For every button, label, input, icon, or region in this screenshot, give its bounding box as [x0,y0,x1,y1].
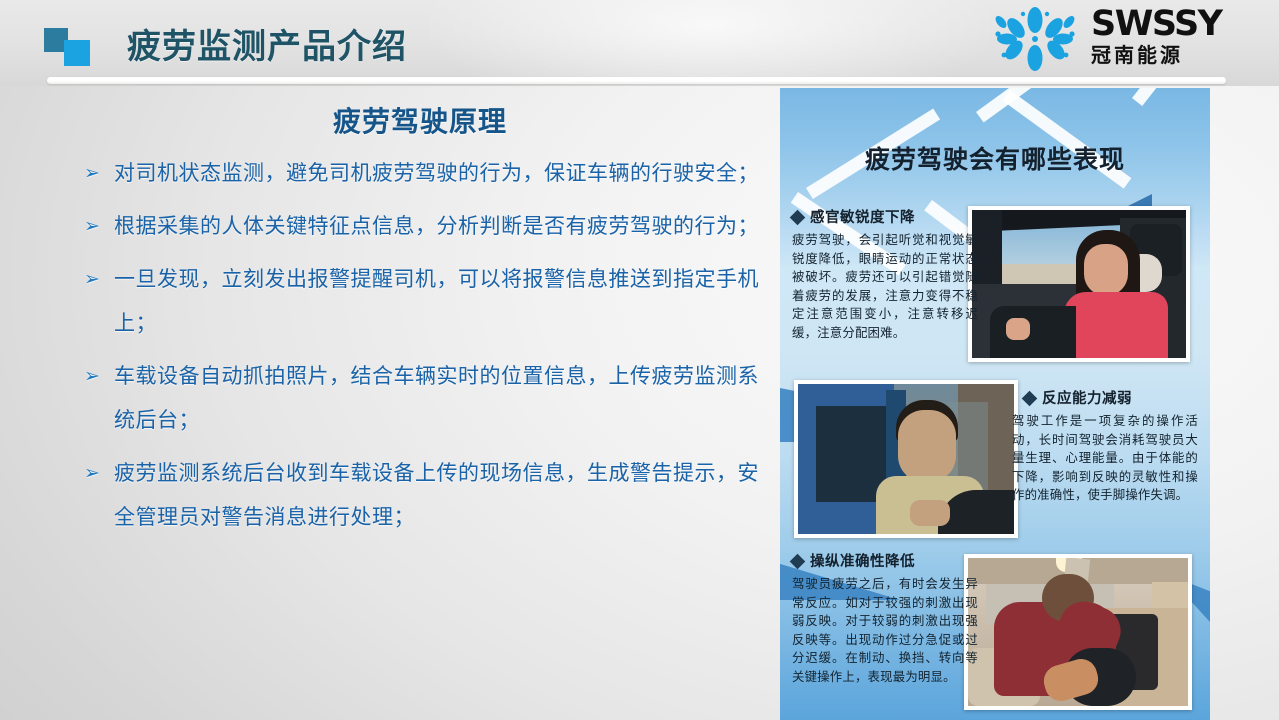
logo-text-block: SWSSY 冠南能源 [1091,5,1261,69]
infographic-heading: 疲劳驾驶会有哪些表现 [780,140,1210,176]
photo-layer-steering-wheel [990,306,1076,358]
photo-layer-face [898,410,956,482]
bullet-list: ➢ 对司机状态监测，避免司机疲劳驾驶的行为，保证车辆的行驶安全； ➢ 根据采集的… [78,152,768,549]
header-sheen [430,0,990,86]
section-body-text: 疲劳驾驶，会引起听觉和视觉敏锐度降低，眼睛运动的正常状态被破坏。疲劳还可以引起错… [792,231,978,342]
section-heading-text: 操纵准确性降低 [810,554,915,570]
bullet-arrow-icon: ➢ [84,258,100,302]
photo-woman-driving-tired [968,206,1190,362]
slide-header: 疲劳监测产品介绍 [0,0,1279,86]
logo-subtitle: 冠南能源 [1091,43,1261,69]
photo-layer-hand [910,500,950,526]
list-item-text: 一旦发现，立刻发出报警提醒司机，可以将报警信息推送到指定手机上； [114,268,759,335]
infographic-section-3: 操纵准确性降低 驾驶员疲劳之后，有时会发生异常反应。如对于较强的刺激出现弱反映。… [792,550,978,686]
section-heading: 操纵准确性降低 [792,550,978,571]
section-heading: 感官敏锐度下降 [792,206,978,227]
square-accent-light-icon [64,40,90,66]
bullet-arrow-icon: ➢ [84,355,100,399]
list-item: ➢ 疲劳监测系统后台收到车载设备上传的现场信息，生成警告提示，安全管理员对警告消… [78,452,768,540]
list-item-text: 对司机状态监测，避免司机疲劳驾驶的行为，保证车辆的行驶安全； [114,162,759,185]
list-item: ➢ 一旦发现，立刻发出报警提醒司机，可以将报警信息推送到指定手机上； [78,258,768,346]
infographic-section-2: 反应能力减弱 驾驶工作是一项复杂的操作活动，长时间驾驶会消耗驾驶员大量生理、心理… [1012,387,1198,505]
section-heading: 反应能力减弱 [1012,387,1198,408]
list-item-text: 车载设备自动抓拍照片，结合车辆实时的位置信息，上传疲劳监测系统后台； [114,365,759,432]
section-title: 疲劳驾驶原理 [110,100,730,140]
list-item: ➢ 车载设备自动抓拍照片，结合车辆实时的位置信息，上传疲劳监测系统后台； [78,355,768,443]
list-item: ➢ 根据采集的人体关键特征点信息，分析判断是否有疲劳驾驶的行为； [78,205,768,249]
photo-layer-face [1084,244,1128,296]
logo-wordmark: SWSSY [1091,5,1261,43]
diamond-bullet-icon [790,210,806,226]
company-logo: SWSSY 冠南能源 [987,4,1263,74]
bullet-arrow-icon: ➢ [84,152,100,196]
bullet-arrow-icon: ➢ [84,452,100,496]
bullet-arrow-icon: ➢ [84,205,100,249]
diamond-bullet-icon [1022,391,1038,407]
infographic-section-1: 感官敏锐度下降 疲劳驾驶，会引起听觉和视觉敏锐度降低，眼睛运动的正常状态被破坏。… [792,206,978,342]
infographic-panel: 疲劳驾驶会有哪些表现 [780,88,1210,720]
section-body-text: 驾驶员疲劳之后，有时会发生异常反应。如对于较强的刺激出现弱反映。对于较弱的刺激出… [792,575,978,686]
slide-canvas: 疲劳监测产品介绍 [0,0,1279,720]
section-heading-text: 反应能力减弱 [1042,391,1132,407]
photo-truck-driver-yawning [794,380,1018,538]
diamond-bullet-icon [790,554,806,570]
list-item-text: 疲劳监测系统后台收到车载设备上传的现场信息，生成警告提示，安全管理员对警告消息进… [114,462,759,529]
water-droplet-flower-logo-icon [987,6,1083,72]
list-item-text: 根据采集的人体关键特征点信息，分析判断是否有疲劳驾驶的行为； [114,215,759,238]
list-item: ➢ 对司机状态监测，避免司机疲劳驾驶的行为，保证车辆的行驶安全； [78,152,768,196]
page-title: 疲劳监测产品介绍 [127,19,407,68]
photo-layer-hand [1006,318,1030,340]
section-heading-text: 感官敏锐度下降 [810,210,915,226]
photo-driver-slumped-on-wheel [964,554,1192,710]
section-body-text: 驾驶工作是一项复杂的操作活动，长时间驾驶会消耗驾驶员大量生理、心理能量。由于体能… [1012,412,1198,505]
header-divider-rule [47,77,1226,84]
